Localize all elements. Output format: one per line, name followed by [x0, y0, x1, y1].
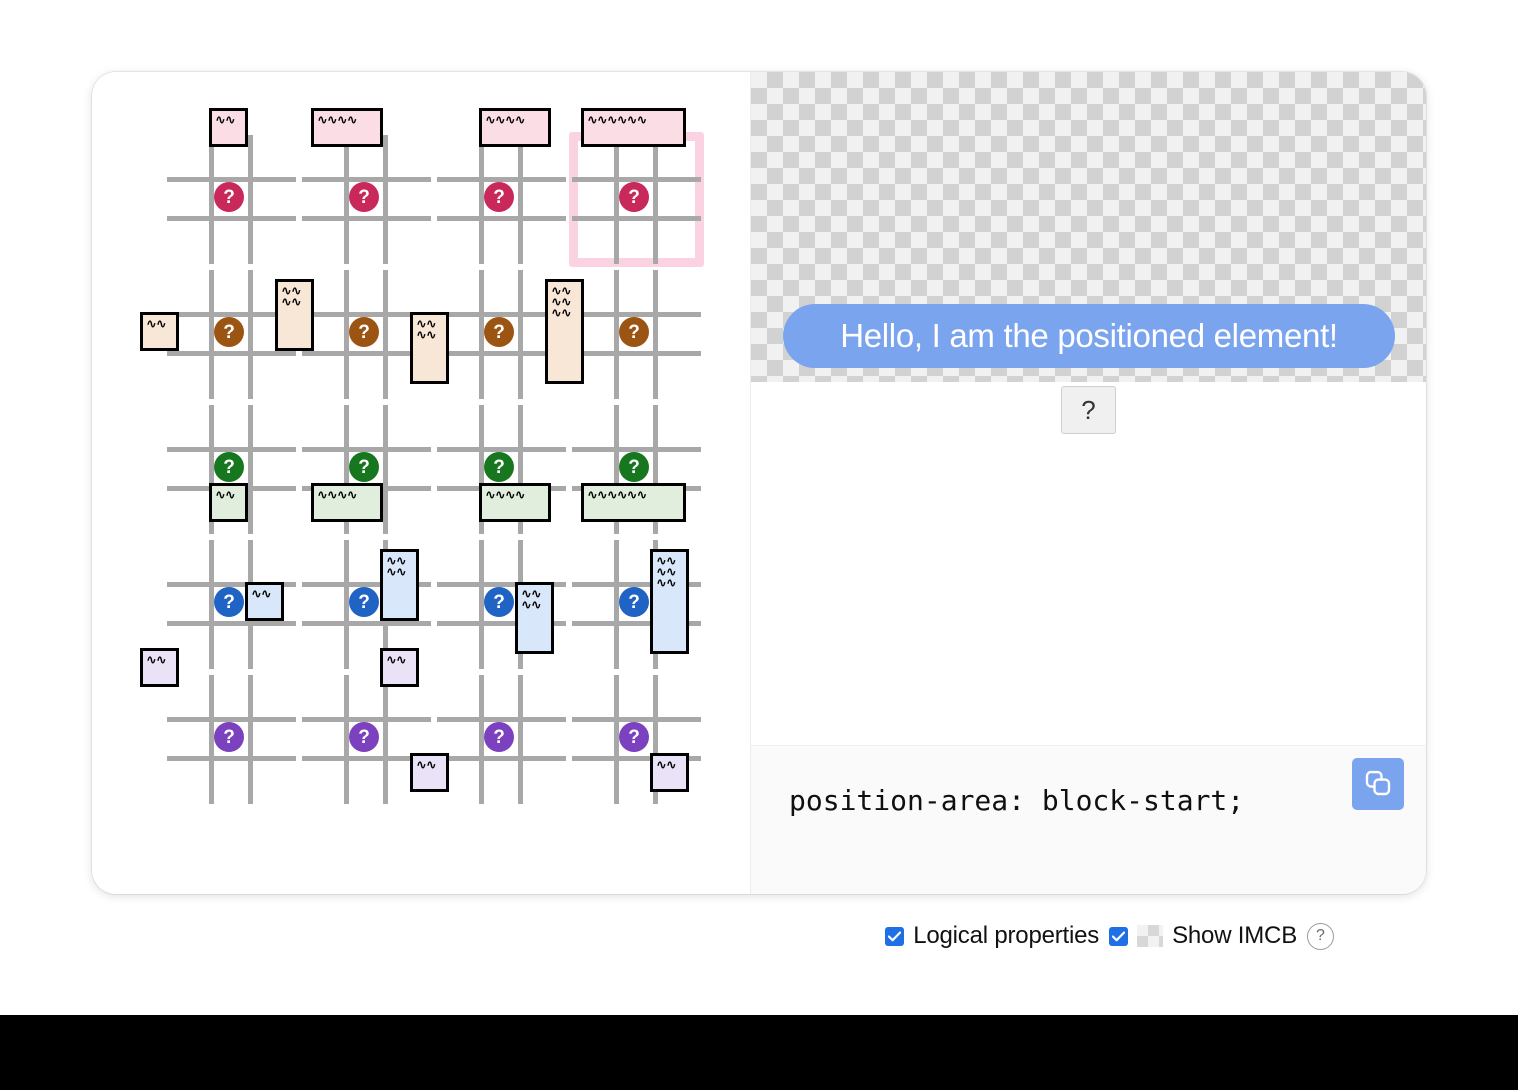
grid-line — [383, 405, 388, 534]
grid-line — [167, 351, 296, 356]
anchor-dot-icon: ? — [484, 722, 514, 752]
grid-line — [572, 351, 701, 356]
grid-line — [383, 675, 388, 804]
picker-cell-grid: ∿∿∿∿∿∿? — [578, 141, 695, 258]
picker-cell[interactable]: ∿∿∿∿? — [299, 402, 434, 537]
positioned-box-glyph: ∿∿ — [380, 648, 419, 687]
picker-cell[interactable]: ∿∿? — [569, 672, 704, 807]
picker-cell-grid: ∿∿∿∿∿∿? — [578, 276, 695, 393]
anchor-dot-icon: ? — [484, 317, 514, 347]
positioned-box-glyph: ∿∿∿∿ — [410, 312, 449, 384]
help-icon-label: ? — [1316, 927, 1325, 945]
squiggle-icon: ∿ — [426, 330, 436, 341]
picker-cell[interactable]: ∿∿∿∿? — [434, 537, 569, 672]
squiggle-icon: ∿ — [317, 490, 327, 501]
squiggle-icon: ∿ — [561, 308, 571, 319]
squiggle-icon: ∿ — [156, 655, 166, 666]
grid-line — [248, 135, 253, 264]
picker-cell-grid: ∿∿? — [173, 276, 290, 393]
squiggle-icon: ∿ — [627, 115, 637, 126]
grid-line — [383, 135, 388, 264]
picker-cell-grid: ∿∿∿∿? — [443, 546, 560, 663]
positioned-box-glyph: ∿∿∿∿ — [479, 483, 551, 522]
positioned-box-glyph: ∿∿∿∿∿∿ — [581, 483, 686, 522]
positioned-box-glyph: ∿∿∿∿ — [311, 108, 383, 147]
anchor-dot-icon: ? — [349, 452, 379, 482]
grid-line — [518, 675, 523, 804]
picker-row-block-start-row: ∿∿?∿∿∿∿?∿∿∿∿?∿∿∿∿∿∿? — [164, 132, 704, 267]
squiggle-icon: ∿ — [515, 490, 525, 501]
grid-line — [437, 216, 566, 221]
squiggle-icon: ∿ — [146, 319, 156, 330]
grid-line — [518, 135, 523, 264]
positioned-element-bubble: Hello, I am the positioned element! — [783, 304, 1395, 368]
picker-cell-grid: ∿∿∿∿? — [308, 276, 425, 393]
positioned-box-glyph: ∿∿∿∿ — [275, 279, 314, 351]
positioned-box-glyph: ∿∿∿∿ — [479, 108, 551, 147]
bubble-text: Hello, I am the positioned element! — [840, 317, 1338, 355]
picker-cell[interactable]: ∿∿∿∿? — [299, 132, 434, 267]
grid-line — [653, 135, 658, 264]
anchor-dot-icon: ? — [619, 452, 649, 482]
positioned-box-glyph: ∿∿∿∿∿∿ — [650, 549, 689, 654]
squiggle-icon: ∿ — [251, 589, 261, 600]
page-root: ∿∿?∿∿∿∿?∿∿∿∿?∿∿∿∿∿∿?∿∿?∿∿∿∿?∿∿∿∿?∿∿∿∿∿∿?… — [0, 0, 1518, 1090]
picker-cell[interactable]: ∿∿∿∿∿∿? — [569, 402, 704, 537]
grid-line — [302, 621, 431, 626]
picker-panel: ∿∿?∿∿∿∿?∿∿∿∿?∿∿∿∿∿∿?∿∿?∿∿∿∿?∿∿∿∿?∿∿∿∿∿∿?… — [92, 72, 750, 894]
positioned-box-glyph: ∿∿∿∿ — [515, 582, 554, 654]
grid-line — [653, 270, 658, 399]
picker-cell-grid: ∿∿? — [443, 681, 560, 798]
squiggle-icon: ∿ — [627, 490, 637, 501]
squiggle-icon: ∿ — [597, 115, 607, 126]
code-panel: position-area: block-start; — [751, 745, 1426, 894]
anchor-button[interactable]: ? — [1061, 386, 1116, 434]
picker-cell-grid: ∿∿? — [308, 681, 425, 798]
picker-cell-grid: ∿∿∿∿? — [443, 141, 560, 258]
anchor-dot-icon: ? — [214, 317, 244, 347]
code-snippet: position-area: block-start; — [789, 784, 1244, 817]
anchor-dot-icon: ? — [349, 182, 379, 212]
anchor-dot-icon: ? — [349, 587, 379, 617]
picker-cell-grid: ∿∿? — [173, 681, 290, 798]
picker-cell[interactable]: ∿∿? — [164, 402, 299, 537]
squiggle-icon: ∿ — [317, 115, 327, 126]
picker-cell-grid: ∿∿∿∿∿∿? — [578, 546, 695, 663]
picker-cell-grid: ∿∿? — [173, 141, 290, 258]
picker-row-inline-end-row: ∿∿?∿∿∿∿?∿∿∿∿?∿∿∿∿∿∿? — [164, 537, 704, 672]
anchor-dot-icon: ? — [349, 317, 379, 347]
squiggle-icon: ∿ — [426, 760, 436, 771]
imcb-swatch-icon — [1137, 925, 1163, 947]
positioned-box-glyph: ∿∿ — [209, 108, 248, 147]
positioned-box-glyph: ∿∿∿∿∿∿ — [581, 108, 686, 147]
grid-line — [248, 270, 253, 399]
squiggle-icon: ∿ — [656, 578, 666, 589]
squiggle-icon: ∿ — [215, 490, 225, 501]
anchor-dot-icon: ? — [349, 722, 379, 752]
picker-cell-grid: ∿∿∿∿? — [308, 411, 425, 528]
picker-cell[interactable]: ∿∿∿∿∿∿? — [569, 267, 704, 402]
picker-cell[interactable]: ∿∿? — [164, 132, 299, 267]
positioned-box-glyph: ∿∿ — [650, 753, 689, 792]
squiggle-icon: ∿ — [347, 115, 357, 126]
picker-cell[interactable]: ∿∿? — [164, 537, 299, 672]
squiggle-icon: ∿ — [637, 115, 647, 126]
positioned-box-glyph: ∿∿ — [209, 483, 248, 522]
squiggle-icon: ∿ — [156, 319, 166, 330]
positioned-box-glyph: ∿∿ — [140, 648, 179, 687]
show-imcb-control[interactable]: Show IMCB — [1109, 922, 1297, 950]
anchor-dot-icon: ? — [484, 182, 514, 212]
squiggle-icon: ∿ — [521, 600, 531, 611]
anchor-dot-icon: ? — [214, 452, 244, 482]
squiggle-icon: ∿ — [225, 115, 235, 126]
grid-line — [248, 675, 253, 804]
squiggle-icon: ∿ — [416, 330, 426, 341]
picker-cell[interactable]: ∿∿∿∿? — [434, 402, 569, 537]
squiggle-icon: ∿ — [505, 115, 515, 126]
squiggle-icon: ∿ — [587, 115, 597, 126]
positioned-box-glyph: ∿∿ — [245, 582, 284, 621]
anchor-dot-icon: ? — [484, 587, 514, 617]
squiggle-icon: ∿ — [225, 490, 235, 501]
squiggle-icon: ∿ — [607, 115, 617, 126]
positioned-box-glyph: ∿∿∿∿ — [311, 483, 383, 522]
footer-controls: Logical properties Show IMCB ? — [0, 922, 1426, 950]
anchor-label: ? — [1081, 395, 1095, 426]
picker-cell[interactable]: ∿∿? — [434, 672, 569, 807]
squiggle-icon: ∿ — [597, 490, 607, 501]
picker-cell-grid: ∿∿∿∿∿∿? — [578, 411, 695, 528]
picker-cell-grid: ∿∿? — [173, 546, 290, 663]
squiggle-icon: ∿ — [396, 655, 406, 666]
squiggle-icon: ∿ — [666, 578, 676, 589]
squiggle-icon: ∿ — [396, 567, 406, 578]
squiggle-icon: ∿ — [495, 490, 505, 501]
picker-cell[interactable]: ∿∿? — [164, 672, 299, 807]
squiggle-icon: ∿ — [327, 115, 337, 126]
squiggle-icon: ∿ — [485, 115, 495, 126]
squiggle-icon: ∿ — [261, 589, 271, 600]
logical-properties-label: Logical properties — [913, 922, 1099, 950]
squiggle-icon: ∿ — [617, 490, 627, 501]
squiggle-icon: ∿ — [146, 655, 156, 666]
picker-cell[interactable]: ∿∿∿∿? — [434, 132, 569, 267]
squiggle-icon: ∿ — [666, 760, 676, 771]
picker-cell-grid: ∿∿∿∿? — [443, 411, 560, 528]
grid-line — [167, 756, 296, 761]
positioned-box-glyph: ∿∿∿∿∿∿ — [545, 279, 584, 384]
logical-properties-checkbox[interactable] — [885, 927, 904, 946]
anchor-dot-icon: ? — [619, 722, 649, 752]
picker-cell[interactable]: ∿∿∿∿∿∿? — [569, 537, 704, 672]
picker-cell-grid: ∿∿∿∿? — [308, 546, 425, 663]
grid-line — [248, 405, 253, 534]
squiggle-icon: ∿ — [495, 115, 505, 126]
positioned-box-glyph: ∿∿ — [410, 753, 449, 792]
squiggle-icon: ∿ — [291, 297, 301, 308]
picker-row-corner-row: ∿∿?∿∿?∿∿?∿∿? — [164, 672, 704, 807]
bottom-bar — [0, 1015, 1518, 1090]
picker-cell-grid: ∿∿? — [173, 411, 290, 528]
squiggle-icon: ∿ — [327, 490, 337, 501]
picker-cell-grid: ∿∿∿∿? — [308, 141, 425, 258]
squiggle-icon: ∿ — [215, 115, 225, 126]
grid-line — [302, 216, 431, 221]
picker-row-inline-start-row: ∿∿?∿∿∿∿?∿∿∿∿?∿∿∿∿∿∿? — [164, 267, 704, 402]
grid-line — [572, 216, 701, 221]
demo-card: ∿∿?∿∿∿∿?∿∿∿∿?∿∿∿∿∿∿?∿∿?∿∿∿∿?∿∿∿∿?∿∿∿∿∿∿?… — [92, 72, 1426, 894]
grid-line — [383, 270, 388, 399]
show-imcb-label: Show IMCB — [1172, 922, 1297, 950]
squiggle-icon: ∿ — [337, 490, 347, 501]
anchor-dot-icon: ? — [214, 722, 244, 752]
anchor-dot-icon: ? — [619, 317, 649, 347]
anchor-dot-icon: ? — [619, 587, 649, 617]
squiggle-icon: ∿ — [515, 115, 525, 126]
squiggle-icon: ∿ — [617, 115, 627, 126]
anchor-dot-icon: ? — [619, 182, 649, 212]
picker-cell-grid: ∿∿? — [578, 681, 695, 798]
grid-line — [167, 621, 296, 626]
positioned-box-glyph: ∿∿ — [140, 312, 179, 351]
squiggle-icon: ∿ — [656, 760, 666, 771]
anchor-dot-icon: ? — [484, 452, 514, 482]
squiggle-icon: ∿ — [551, 308, 561, 319]
squiggle-icon: ∿ — [347, 490, 357, 501]
grid-line — [518, 270, 523, 399]
copy-icon — [1363, 768, 1393, 801]
squiggle-icon: ∿ — [416, 760, 426, 771]
grid-line — [437, 756, 566, 761]
show-imcb-checkbox[interactable] — [1109, 927, 1128, 946]
squiggle-icon: ∿ — [607, 490, 617, 501]
squiggle-icon: ∿ — [281, 297, 291, 308]
squiggle-icon: ∿ — [386, 655, 396, 666]
anchor-dot-icon: ? — [214, 587, 244, 617]
squiggle-icon: ∿ — [337, 115, 347, 126]
preview-panel: Hello, I am the positioned element! ? po… — [750, 72, 1426, 894]
help-icon[interactable]: ? — [1307, 923, 1334, 950]
position-area-picker: ∿∿?∿∿∿∿?∿∿∿∿?∿∿∿∿∿∿?∿∿?∿∿∿∿?∿∿∿∿?∿∿∿∿∿∿?… — [164, 132, 704, 807]
squiggle-icon: ∿ — [637, 490, 647, 501]
anchor-dot-icon: ? — [214, 182, 244, 212]
squiggle-icon: ∿ — [531, 600, 541, 611]
logical-properties-control[interactable]: Logical properties — [885, 922, 1099, 950]
squiggle-icon: ∿ — [505, 490, 515, 501]
picker-cell-grid: ∿∿∿∿? — [443, 276, 560, 393]
squiggle-icon: ∿ — [386, 567, 396, 578]
picker-cell[interactable]: ∿∿∿∿∿∿? — [569, 132, 704, 267]
squiggle-icon: ∿ — [587, 490, 597, 501]
grid-line — [167, 216, 296, 221]
picker-row-block-end-row: ∿∿?∿∿∿∿?∿∿∿∿?∿∿∿∿∿∿? — [164, 402, 704, 537]
positioned-box-glyph: ∿∿∿∿ — [380, 549, 419, 621]
copy-button[interactable] — [1352, 758, 1404, 810]
squiggle-icon: ∿ — [485, 490, 495, 501]
